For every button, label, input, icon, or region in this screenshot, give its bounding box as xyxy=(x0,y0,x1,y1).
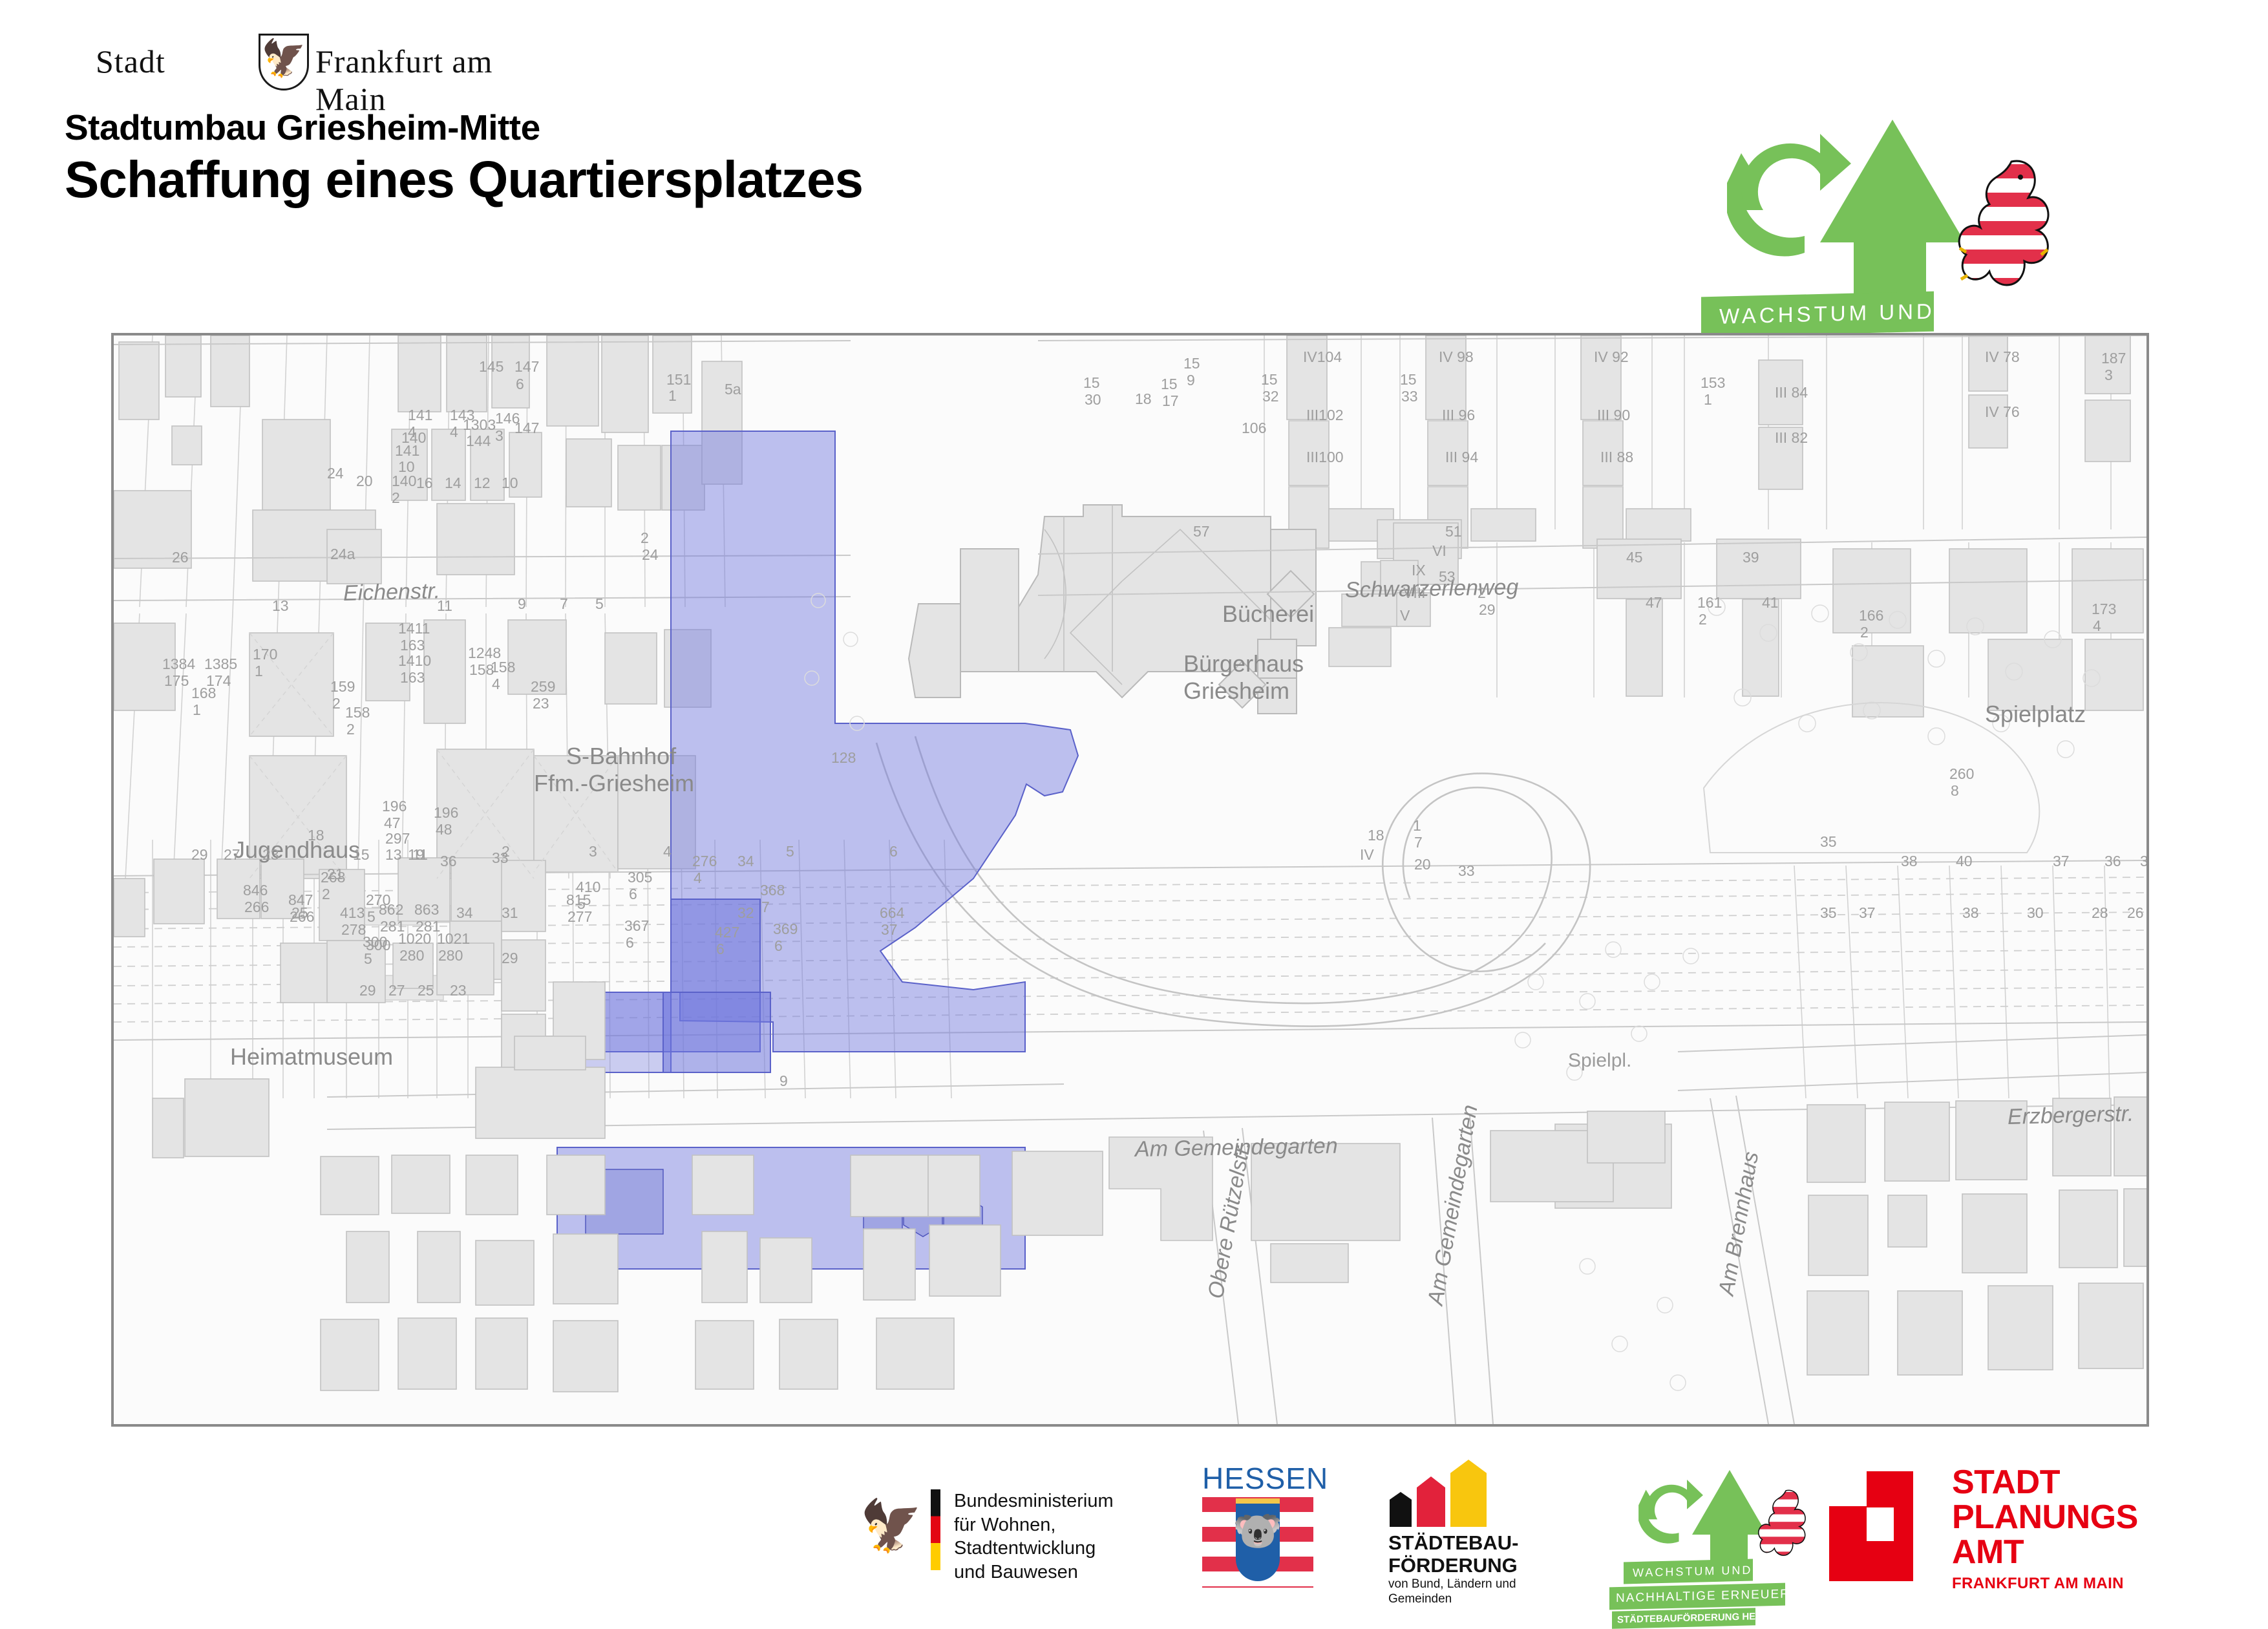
house-icon-yellow xyxy=(1450,1460,1487,1527)
cadastral-map[interactable]: Eichenstr.SchwarzerlenwegErzbergerstr.Am… xyxy=(111,333,2149,1427)
eagle-crest-icon: 🦅 xyxy=(259,34,309,90)
bmwsb-text: Bundesministerium für Wohnen, Stadtentwi… xyxy=(954,1489,1163,1584)
german-flag-bar xyxy=(931,1489,940,1570)
programme-small-line1: WACHSTUM UND xyxy=(1624,1559,1753,1584)
stf-sub2: Gemeinden xyxy=(1388,1592,1516,1607)
hessen-coat-of-arms-icon: 🐨 xyxy=(1236,1504,1280,1581)
page-title: Schaffung eines Quartiersplatzes xyxy=(65,150,863,209)
stadtplanungsamt-title: STADT PLANUNGS AMT xyxy=(1952,1465,2138,1570)
bmwsb-line1: Bundesministerium xyxy=(954,1489,1163,1513)
spa-line1: STADT xyxy=(1952,1465,2138,1500)
house-icon-red xyxy=(1417,1476,1445,1527)
stf-sub1: von Bund, Ländern und xyxy=(1388,1577,1516,1592)
stadtplanungsamt-logo: STADT PLANUNGS AMT FRANKFURT AM MAIN xyxy=(1829,1465,2165,1594)
funding-logo-bar: 🦅 Bundesministerium für Wohnen, Stadtent… xyxy=(0,1454,2268,1603)
stf-line2: FÖRDERUNG xyxy=(1388,1555,1519,1577)
map-vector-layer xyxy=(114,335,2146,1424)
crest-eagle-glyph: 🦅 xyxy=(261,40,306,76)
house-arrow-icon xyxy=(1820,120,1965,242)
city-logo-word-stadt: Stadt xyxy=(96,43,165,80)
hessen-wordmark: HESSEN xyxy=(1202,1461,1328,1496)
house-icon-black xyxy=(1390,1492,1412,1527)
stadtplanungsamt-subtitle: FRANKFURT AM MAIN xyxy=(1952,1575,2124,1593)
programme-small-line2: NACHHALTIGE ERNEUERUNG xyxy=(1609,1583,1785,1610)
hessen-logo: HESSEN 🐨 xyxy=(1202,1461,1331,1590)
bmwsb-line2: für Wohnen, Stadtentwicklung xyxy=(954,1513,1163,1560)
project-subtitle: Stadtumbau Griesheim-Mitte xyxy=(65,107,540,148)
spa-line3: AMT xyxy=(1952,1535,2138,1570)
stf-line1: STÄDTEBAU- xyxy=(1388,1532,1519,1555)
poster-header: Stadt 🦅 Frankfurt am Main Stadtumbau Gri… xyxy=(0,0,2268,304)
spa-mark-icon xyxy=(1829,1471,1933,1581)
programme-band-line1: WACHSTUM UND xyxy=(1701,292,1934,337)
hessen-lion-icon-small xyxy=(1757,1487,1811,1566)
staedtebaufoerderung-logo: STÄDTEBAU- FÖRDERUNG von Bund, Ländern u… xyxy=(1383,1466,1545,1589)
bmwsb-line3: und Bauwesen xyxy=(954,1560,1163,1584)
hessen-lion-icon xyxy=(1956,155,2059,304)
staedtebaufoerderung-title: STÄDTEBAU- FÖRDERUNG xyxy=(1388,1532,1519,1577)
spa-line2: PLANUNGS xyxy=(1952,1500,2138,1535)
staedtebaufoerderung-subtitle: von Bund, Ländern und Gemeinden xyxy=(1388,1577,1516,1607)
city-of-frankfurt-logo: Stadt 🦅 Frankfurt am Main xyxy=(96,32,516,90)
programme-small-line3: STÄDTEBAUFÖRDERUNG HESSEN xyxy=(1612,1608,1755,1628)
federal-eagle-icon: 🦅 xyxy=(860,1495,914,1557)
hessen-lion-glyph: 🐨 xyxy=(1233,1511,1282,1551)
bmwsb-logo: 🦅 Bundesministerium für Wohnen, Stadtent… xyxy=(860,1469,1163,1585)
house-arrow-icon-small xyxy=(1692,1470,1767,1535)
